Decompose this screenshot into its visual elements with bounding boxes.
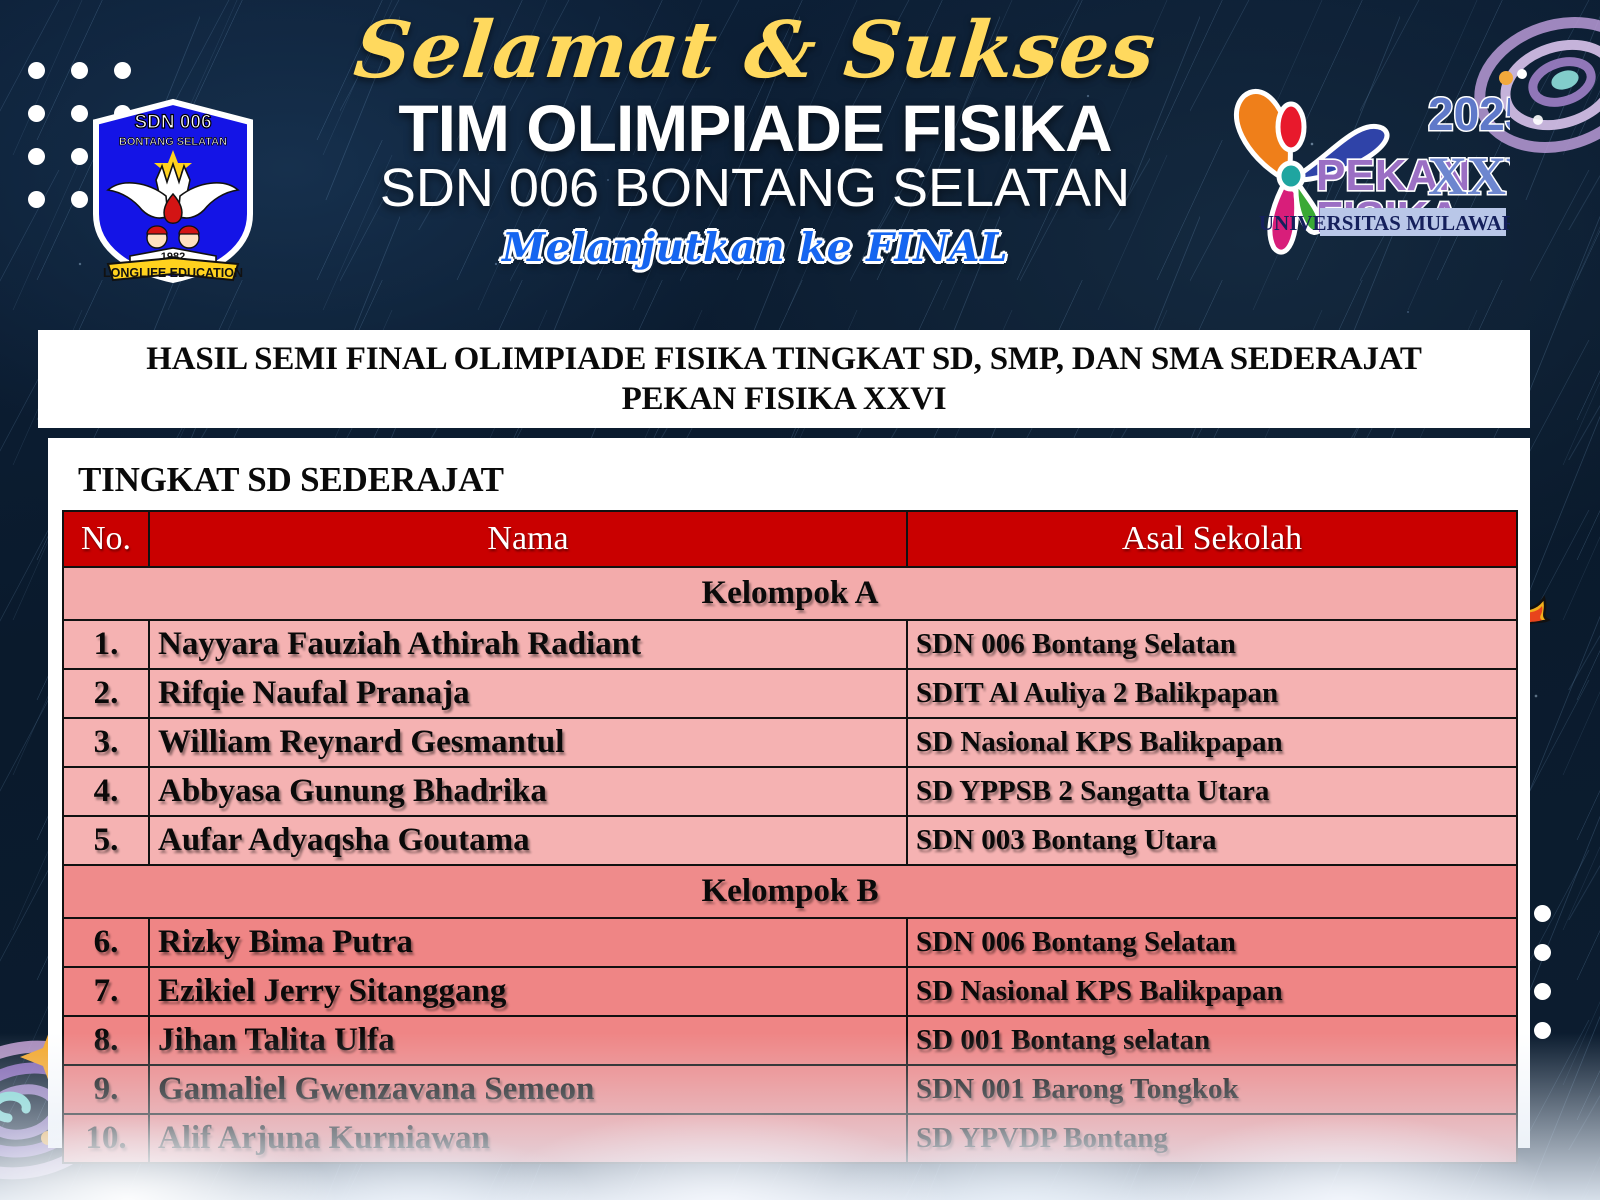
table-row: 3. William Reynard Gesmantul SD Nasional…	[63, 718, 1517, 767]
table-header-row: No. Nama Asal Sekolah	[63, 511, 1517, 567]
table-row: 4. Abbyasa Gunung Bhadrika SD YPPSB 2 Sa…	[63, 767, 1517, 816]
row-no: 4.	[63, 767, 149, 816]
banner-line-2: PEKAN FISIKA XXVI	[622, 381, 947, 417]
table-row: 8. Jihan Talita Ulfa SD 001 Bontang sela…	[63, 1016, 1517, 1065]
banner-line-1: HASIL SEMI FINAL OLIMPIADE FISIKA TINGKA…	[146, 341, 1422, 377]
script-title: Selamat & Sukses	[246, 14, 1264, 89]
results-banner: HASIL SEMI FINAL OLIMPIADE FISIKA TINGKA…	[38, 330, 1530, 428]
row-sekolah: SD 001 Bontang selatan	[907, 1016, 1517, 1065]
pekan-logo-university: UNIVERSITAS MULAWARMAN	[1259, 211, 1510, 235]
row-nama: Jihan Talita Ulfa	[149, 1016, 907, 1065]
table-row: 7. Ezikiel Jerry Sitanggang SD Nasional …	[63, 967, 1517, 1016]
row-nama: Alif Arjuna Kurniawan	[149, 1114, 907, 1163]
row-sekolah: SD Nasional KPS Balikpapan	[907, 718, 1517, 767]
row-sekolah: SDIT Al Auliya 2 Balikpapan	[907, 669, 1517, 718]
row-no: 7.	[63, 967, 149, 1016]
row-sekolah: SD Nasional KPS Balikpapan	[907, 967, 1517, 1016]
school-logo-motto: LONGLIFE EDUCATION	[103, 266, 243, 280]
banner-text: HASIL SEMI FINAL OLIMPIADE FISIKA TINGKA…	[122, 339, 1446, 420]
table-row: 9. Gamaliel Gwenzavana Semeon SDN 001 Ba…	[63, 1065, 1517, 1114]
row-no: 5.	[63, 816, 149, 865]
row-sekolah: SDN 001 Barong Tongkok	[907, 1065, 1517, 1114]
row-nama: William Reynard Gesmantul	[149, 718, 907, 767]
level-title: TINGKAT SD SEDERAJAT	[78, 460, 1516, 500]
group-label-b: Kelompok B	[63, 865, 1517, 918]
results-table-panel: TINGKAT SD SEDERAJAT No. Nama Asal Sekol…	[48, 438, 1530, 1148]
poster-canvas: SDN 006 BONTANG SELATAN 1982 LONGLIFE ED…	[0, 0, 1600, 1200]
row-sekolah: SD YPVDP Bontang	[907, 1114, 1517, 1163]
results-table: No. Nama Asal Sekolah Kelompok A 1. Nayy…	[62, 510, 1518, 1164]
table-row: 5. Aufar Adyaqsha Goutama SDN 003 Bontan…	[63, 816, 1517, 865]
row-nama: Rizky Bima Putra	[149, 918, 907, 967]
row-sekolah: SDN 006 Bontang Selatan	[907, 918, 1517, 967]
row-no: 6.	[63, 918, 149, 967]
group-header-row-a: Kelompok A	[63, 567, 1517, 620]
column-header-no: No.	[63, 511, 149, 567]
dot	[1534, 983, 1551, 1000]
row-sekolah: SDN 003 Bontang Utara	[907, 816, 1517, 865]
row-nama: Rifqie Naufal Pranaja	[149, 669, 907, 718]
row-nama: Abbyasa Gunung Bhadrika	[149, 767, 907, 816]
main-title: TIM OLIMPIADE FISIKA	[250, 95, 1260, 162]
group-header-row-b: Kelompok B	[63, 865, 1517, 918]
dot	[1534, 905, 1551, 922]
final-subtitle: Melanjutkan ke FINAL	[250, 227, 1260, 270]
poster-header: SDN 006 BONTANG SELATAN 1982 LONGLIFE ED…	[0, 0, 1600, 330]
table-row: 10. Alif Arjuna Kurniawan SD YPVDP Bonta…	[63, 1114, 1517, 1163]
row-nama: Nayyara Fauziah Athirah Radiant	[149, 620, 907, 669]
school-logo-sdn006-icon: SDN 006 BONTANG SELATAN 1982 LONGLIFE ED…	[78, 88, 268, 286]
row-nama: Ezikiel Jerry Sitanggang	[149, 967, 907, 1016]
row-no: 8.	[63, 1016, 149, 1065]
title-block: Selamat & Sukses TIM OLIMPIADE FISIKA SD…	[250, 14, 1260, 270]
row-sekolah: SDN 006 Bontang Selatan	[907, 620, 1517, 669]
school-logo-arc-sub: BONTANG SELATAN	[119, 136, 227, 148]
table-row: 1. Nayyara Fauziah Athirah Radiant SDN 0…	[63, 620, 1517, 669]
dot	[1534, 944, 1551, 961]
dot-column-right	[1534, 905, 1551, 1039]
row-no: 9.	[63, 1065, 149, 1114]
row-no: 2.	[63, 669, 149, 718]
column-header-sekolah: Asal Sekolah	[907, 511, 1517, 567]
group-label-a: Kelompok A	[63, 567, 1517, 620]
pekan-logo-edition: XXVI	[1428, 146, 1510, 206]
row-no: 3.	[63, 718, 149, 767]
table-row: 6. Rizky Bima Putra SDN 006 Bontang Sela…	[63, 918, 1517, 967]
row-sekolah: SD YPPSB 2 Sangatta Utara	[907, 767, 1517, 816]
column-header-nama: Nama	[149, 511, 907, 567]
dot	[1534, 1022, 1551, 1039]
row-nama: Aufar Adyaqsha Goutama	[149, 816, 907, 865]
sub-title: SDN 006 BONTANG SELATAN	[250, 160, 1260, 217]
row-no: 10.	[63, 1114, 149, 1163]
school-logo-arc-top: SDN 006	[134, 112, 211, 133]
pekan-logo-year: 2025	[1428, 88, 1510, 140]
row-nama: Gamaliel Gwenzavana Semeon	[149, 1065, 907, 1114]
table-row: 2. Rifqie Naufal Pranaja SDIT Al Auliya …	[63, 669, 1517, 718]
row-no: 1.	[63, 620, 149, 669]
